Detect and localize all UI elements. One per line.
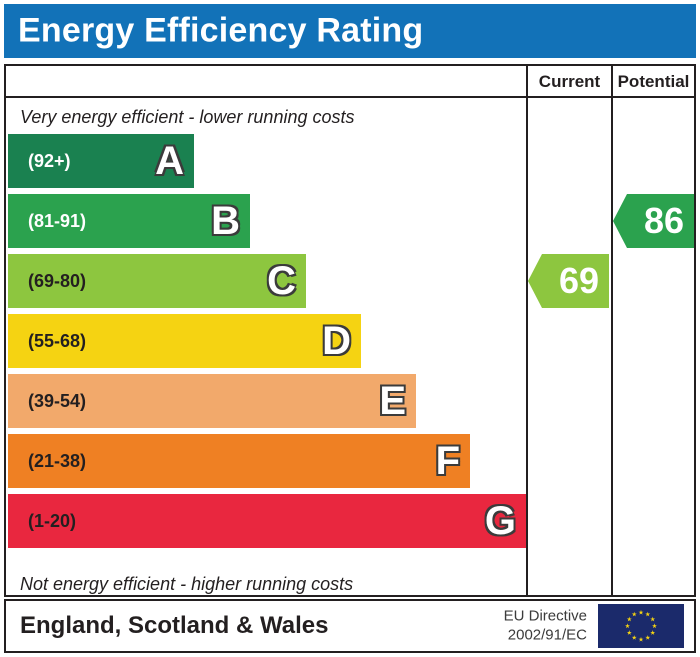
caption-not-efficient: Not energy efficient - higher running co… xyxy=(20,574,353,595)
band-letter-c: C xyxy=(267,261,296,301)
current-rating: 69 xyxy=(528,254,609,308)
eu-flag-icon xyxy=(598,604,684,648)
band-range-c: (69-80) xyxy=(28,271,86,292)
column-header-potential: Potential xyxy=(613,66,694,98)
potential-rating-value: 86 xyxy=(644,203,684,239)
column-divider-current xyxy=(526,66,528,595)
band-row-a: (92+)A xyxy=(8,134,194,188)
band-row-c: (69-80)C xyxy=(8,254,306,308)
band-range-b: (81-91) xyxy=(28,211,86,232)
band-row-f: (21-38)F xyxy=(8,434,470,488)
current-rating-value: 69 xyxy=(559,263,599,299)
column-header-current: Current xyxy=(528,66,611,98)
directive-line-1: EU Directive xyxy=(504,607,587,626)
page-title: Energy Efficiency Rating xyxy=(18,12,423,51)
column-divider-potential xyxy=(611,66,613,595)
caption-very-efficient: Very energy efficient - lower running co… xyxy=(20,107,355,128)
band-range-a: (92+) xyxy=(28,151,71,172)
band-range-g: (1-20) xyxy=(28,511,76,532)
band-range-f: (21-38) xyxy=(28,451,86,472)
band-row-d: (55-68)D xyxy=(8,314,361,368)
band-range-d: (55-68) xyxy=(28,331,86,352)
band-letter-f: F xyxy=(436,441,460,481)
potential-rating: 86 xyxy=(613,194,694,248)
energy-efficiency-certificate: Energy Efficiency Rating Current Potenti… xyxy=(0,0,700,657)
band-range-e: (39-54) xyxy=(28,391,86,412)
footer-region-label: England, Scotland & Wales xyxy=(20,612,328,640)
title-bar: Energy Efficiency Rating xyxy=(4,4,696,58)
band-letter-b: B xyxy=(211,201,240,241)
band-letter-e: E xyxy=(379,381,406,421)
band-letter-d: D xyxy=(322,321,351,361)
footer-directive: EU Directive 2002/91/EC xyxy=(504,607,587,645)
band-letter-a: A xyxy=(155,141,184,181)
band-letter-g: G xyxy=(485,501,516,541)
footer-bar: England, Scotland & Wales EU Directive 2… xyxy=(4,599,696,653)
band-row-g: (1-20)G xyxy=(8,494,526,548)
band-row-b: (81-91)B xyxy=(8,194,250,248)
rating-table: Current Potential Very energy efficient … xyxy=(4,64,696,597)
directive-line-2: 2002/91/EC xyxy=(504,626,587,645)
band-row-e: (39-54)E xyxy=(8,374,416,428)
